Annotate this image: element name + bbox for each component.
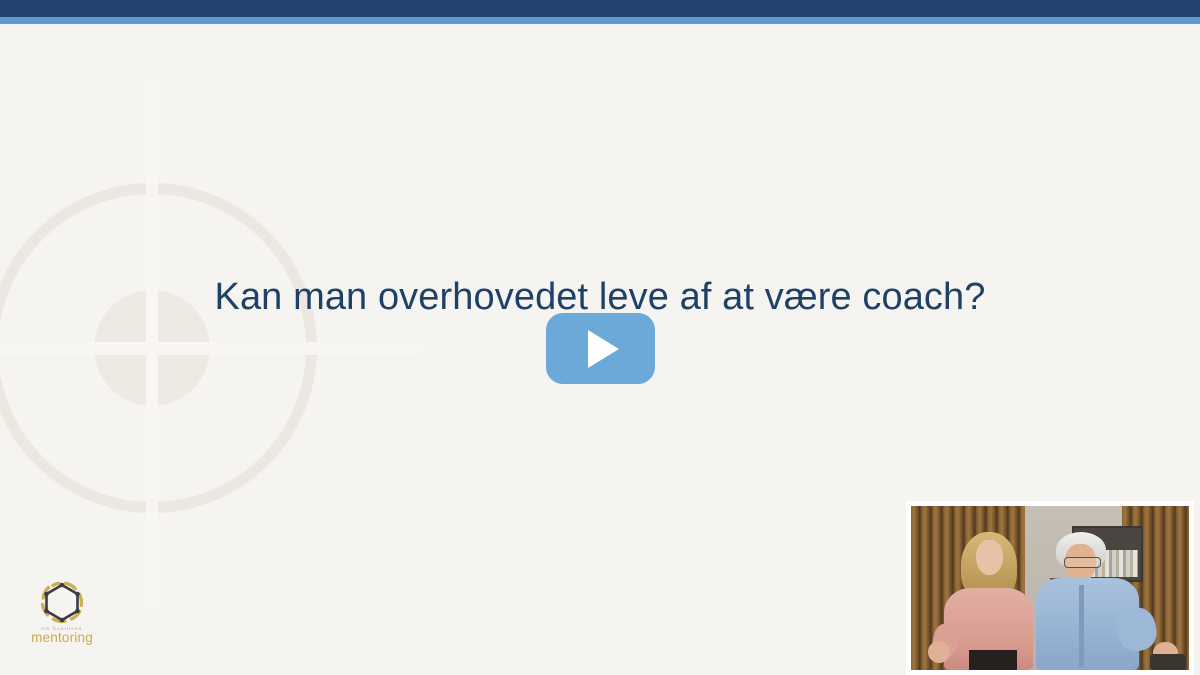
video-thumbnail[interactable]	[906, 501, 1194, 675]
chair-armrest	[1150, 654, 1186, 670]
video-thumbnail-image	[911, 506, 1189, 670]
hexagon-logo-icon	[37, 578, 87, 625]
brand-name: mentoring	[28, 631, 96, 645]
brand-logo: om business mentoring	[28, 578, 96, 645]
person-left-hand	[928, 641, 950, 664]
glasses-icon	[1064, 557, 1101, 568]
top-bar-dark	[0, 0, 1200, 17]
top-bar-accent-stripe	[0, 17, 1200, 24]
person-left-face	[976, 540, 1002, 574]
crosshair-ring-icon	[0, 183, 317, 513]
person-right-shirt-placket	[1079, 585, 1083, 667]
crosshair-horizontal-line-icon	[0, 342, 422, 355]
play-triangle-icon	[588, 330, 619, 368]
crosshair-vertical-line-icon	[146, 78, 158, 610]
person-left-skirt	[969, 650, 1016, 670]
play-button[interactable]	[546, 313, 655, 384]
slide-canvas: Kan man overhovedet leve af at være coac…	[0, 0, 1200, 675]
